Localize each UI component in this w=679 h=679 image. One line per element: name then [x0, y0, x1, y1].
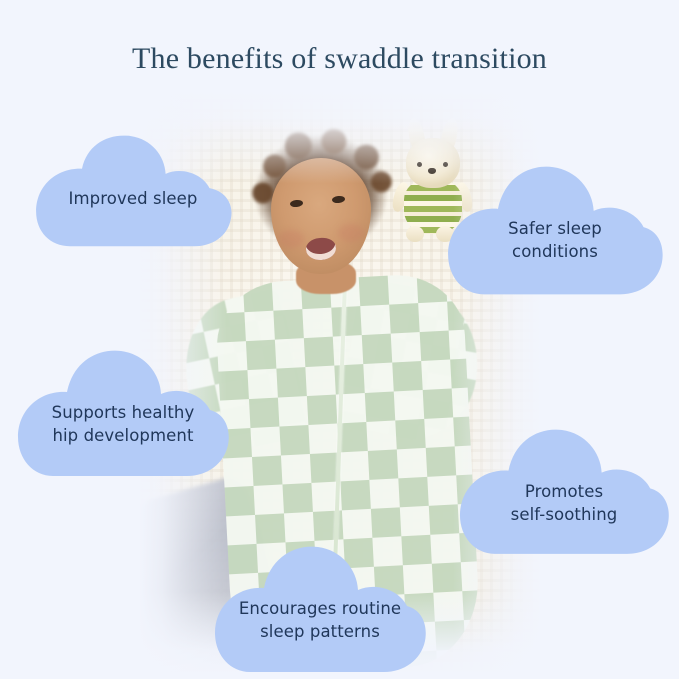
benefit-label: Encourages routine sleep patterns: [210, 577, 430, 644]
benefit-cloud-improved-sleep: Improved sleep: [31, 132, 235, 248]
benefit-label: Supports healthy hip development: [13, 381, 233, 448]
bunny-nose: [428, 168, 436, 174]
benefit-cloud-self-soothing: Promotes self-soothing: [455, 426, 673, 560]
baby-cheek-left: [278, 230, 304, 248]
benefit-cloud-safer-sleep: Safer sleep conditions: [443, 163, 667, 297]
page-title: The benefits of swaddle transition: [0, 42, 679, 76]
benefit-cloud-routine-sleep: Encourages routine sleep patterns: [210, 543, 430, 677]
benefit-label: Improved sleep: [31, 169, 235, 210]
benefits-infographic: The benefits of swaddle transition: [0, 0, 679, 679]
benefit-label: Promotes self-soothing: [455, 460, 673, 527]
bunny-eye-left: [417, 162, 422, 167]
benefit-label: Safer sleep conditions: [443, 197, 667, 264]
baby-cheek-right: [338, 224, 364, 242]
benefit-cloud-hip-development: Supports healthy hip development: [13, 347, 233, 481]
bunny-foot-left: [406, 226, 424, 242]
